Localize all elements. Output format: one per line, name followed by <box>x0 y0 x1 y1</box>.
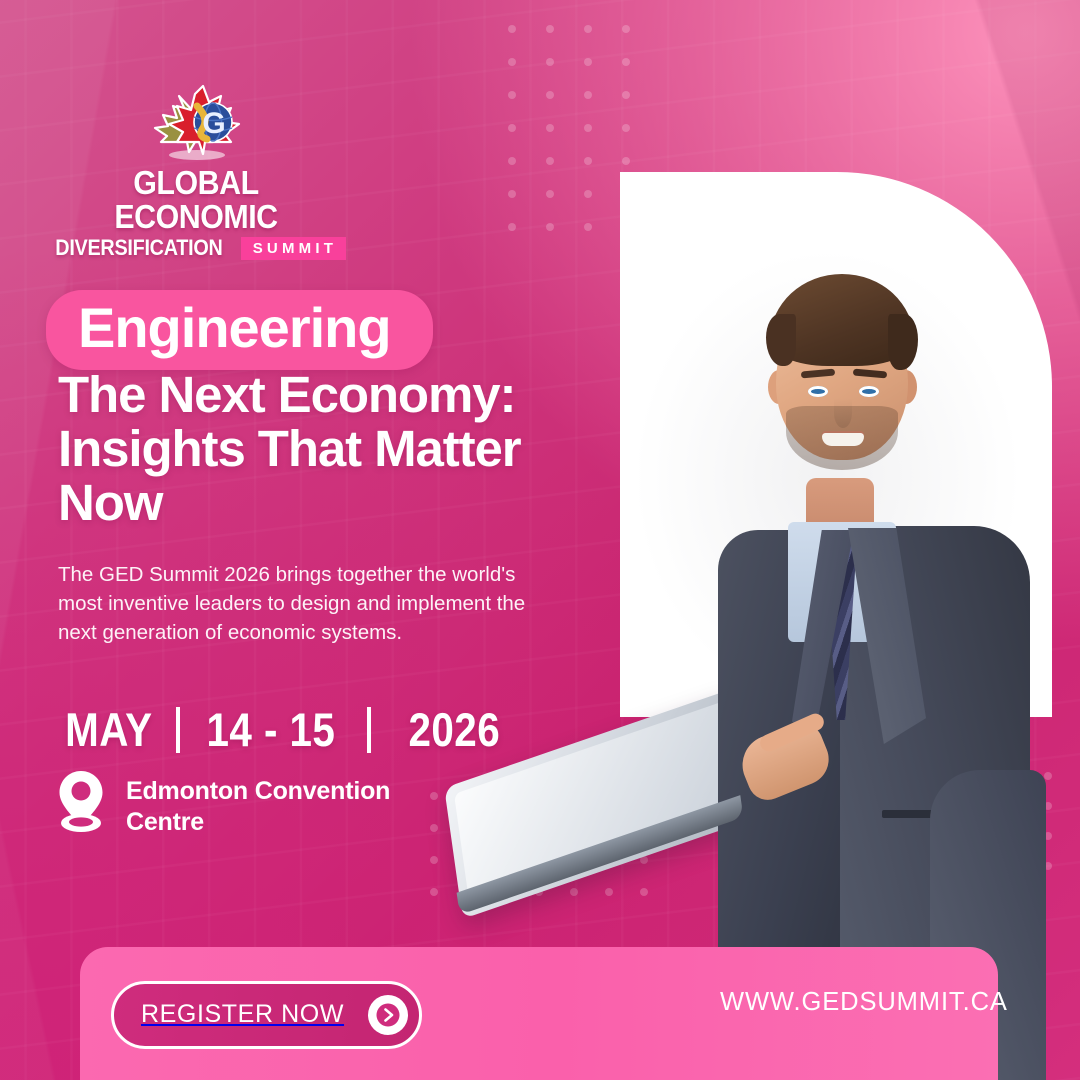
chevron-right-circle-icon <box>368 995 408 1035</box>
register-now-button[interactable]: REGISTER NOW <box>111 981 422 1049</box>
date-divider-1 <box>176 707 180 753</box>
footer-bar: REGISTER NOW WWW.GEDSUMMIT.CA <box>80 947 998 1080</box>
eyebrow-label: Engineering <box>78 299 391 357</box>
venue-name: Edmonton Convention Centre <box>126 770 426 838</box>
website-url: WWW.GEDSUMMIT.CA <box>720 988 1008 1017</box>
location-pin-icon <box>58 770 104 839</box>
event-venue-row: Edmonton Convention Centre <box>58 770 426 839</box>
event-year: 2026 <box>409 706 501 753</box>
event-month: MAY <box>65 706 152 753</box>
date-divider-2 <box>367 707 371 753</box>
event-promo-poster: G GLOBAL ECONOMIC DIVERSIFICATION SUMMIT… <box>0 0 1080 1080</box>
svg-text:G: G <box>202 107 225 140</box>
page-title: The Next Economy: Insights That Matter N… <box>58 368 603 530</box>
eyebrow-badge: Engineering <box>46 290 433 370</box>
mouth <box>822 433 864 446</box>
hair <box>770 274 914 366</box>
eye-left <box>808 386 828 397</box>
logo-title-line2: DIVERSIFICATION <box>55 235 222 261</box>
nose <box>834 398 852 428</box>
logo-summit-badge: SUMMIT <box>241 237 346 260</box>
brand-logo: G GLOBAL ECONOMIC DIVERSIFICATION SUMMIT <box>62 84 330 261</box>
register-button-label: REGISTER NOW <box>141 1001 344 1029</box>
event-date-row: MAY 14 - 15 2026 <box>58 706 508 753</box>
logo-title-line1: GLOBAL ECONOMIC <box>73 166 320 233</box>
dot-grid-top-right <box>508 25 630 231</box>
description-text: The GED Summit 2026 brings together the … <box>58 560 543 647</box>
maple-leaf-globe-icon: G <box>141 84 251 162</box>
event-days: 14 - 15 <box>206 706 335 753</box>
eye-right <box>859 386 879 397</box>
